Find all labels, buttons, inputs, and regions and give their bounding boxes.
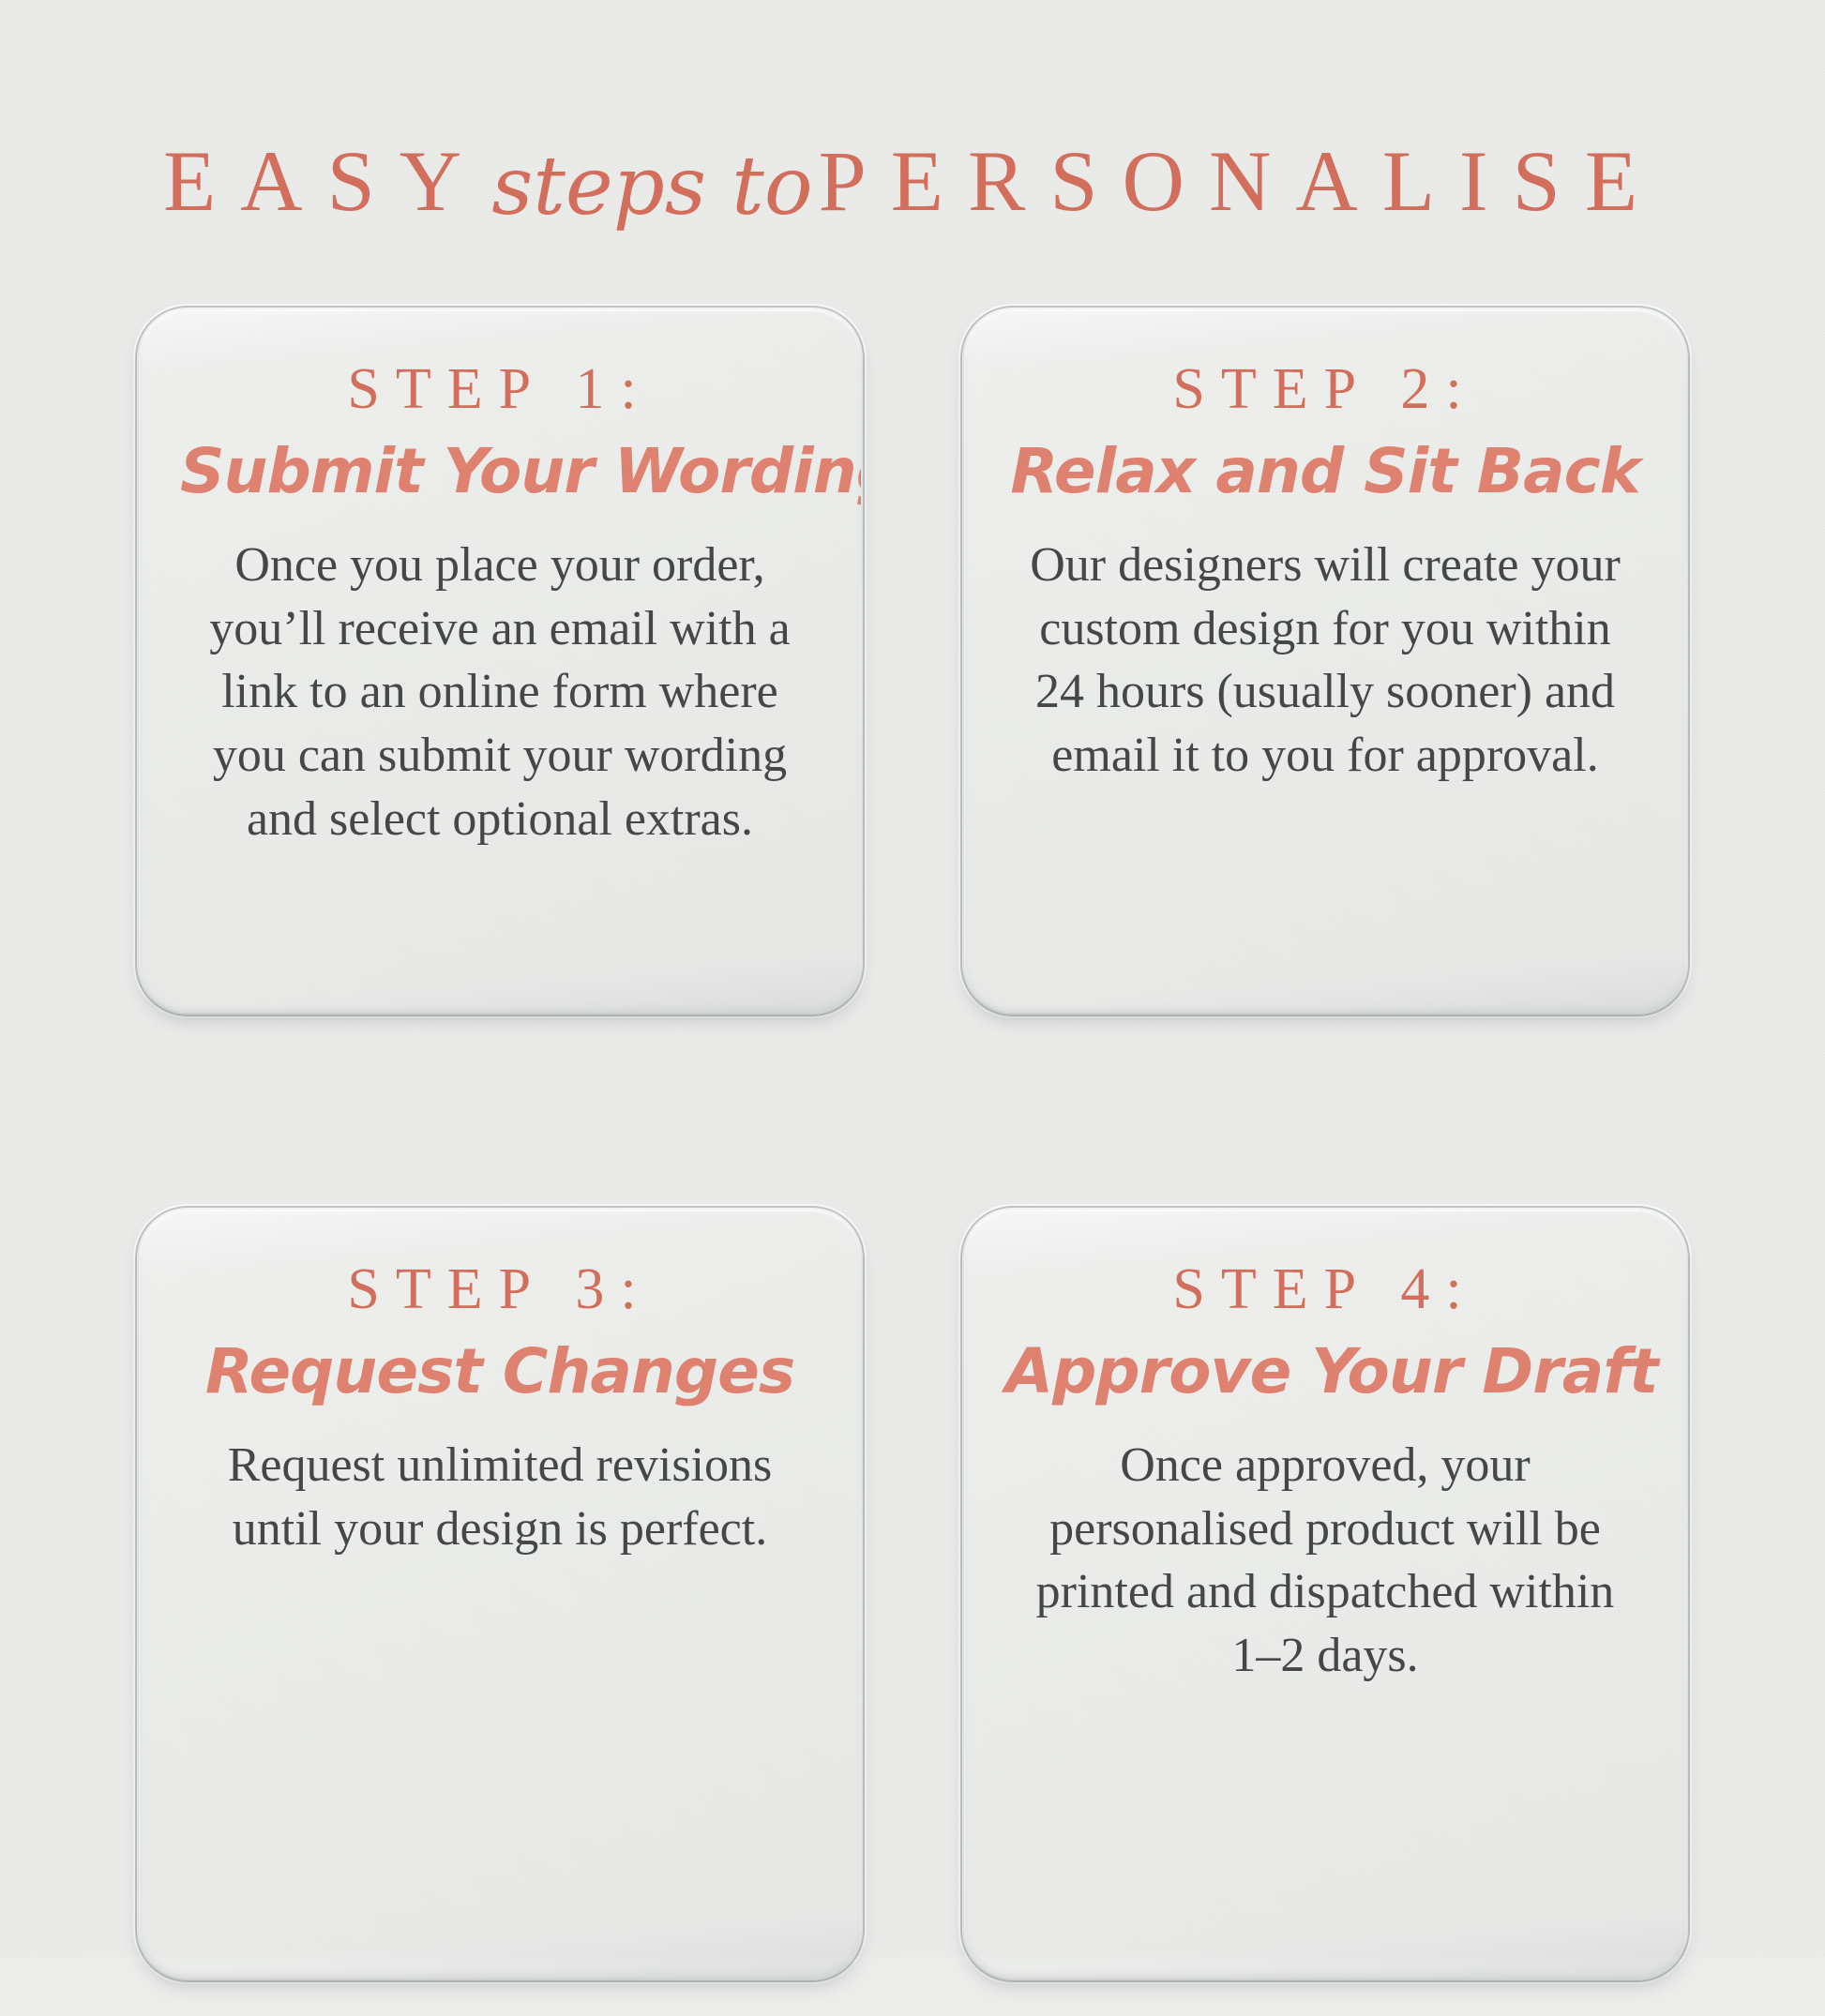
step-card-2-title: Relax and Sit Back [1005, 439, 1645, 504]
step-card-3: STEP 3: Request Changes Request unlimite… [139, 1210, 861, 1978]
page-title-word-personalise: PERSONALISE [819, 133, 1662, 229]
step-card-2: STEP 2: Relax and Sit Back Our designers… [964, 309, 1686, 1013]
personalisation-steps-page: EASYsteps toPERSONALISE STEP 1: Submit Y… [0, 0, 1825, 1957]
step-card-3-body: Request unlimited revisions until your d… [180, 1434, 820, 1560]
step-card-3-title: Request Changes [180, 1339, 820, 1404]
step-card-4-label: STEP 4: [1005, 1260, 1645, 1318]
page-title: EASYsteps toPERSONALISE [0, 131, 1825, 231]
step-card-4: STEP 4: Approve Your Draft Once approved… [964, 1210, 1686, 1978]
steps-row-bottom: STEP 3: Request Changes Request unlimite… [0, 1210, 1825, 2016]
step-card-1-label: STEP 1: [180, 360, 820, 418]
page-title-word-easy: EASY [163, 133, 486, 229]
steps-row-top: STEP 1: Submit Your Wording Once you pla… [0, 309, 1825, 1125]
step-card-1: STEP 1: Submit Your Wording Once you pla… [139, 309, 861, 1013]
step-card-2-label: STEP 2: [1005, 360, 1645, 418]
step-card-4-title: Approve Your Draft [1005, 1339, 1645, 1404]
page-title-script-steps-to: steps to [486, 140, 818, 233]
step-card-4-body: Once approved, your personalised product… [1005, 1434, 1645, 1687]
step-card-1-body: Once you place your order, you’ll receiv… [180, 534, 820, 850]
steps-grid: STEP 1: Submit Your Wording Once you pla… [0, 309, 1825, 2016]
step-card-2-body: Our designers will create your custom de… [1005, 534, 1645, 787]
step-card-1-title: Submit Your Wording [180, 439, 820, 504]
step-card-3-label: STEP 3: [180, 1260, 820, 1318]
